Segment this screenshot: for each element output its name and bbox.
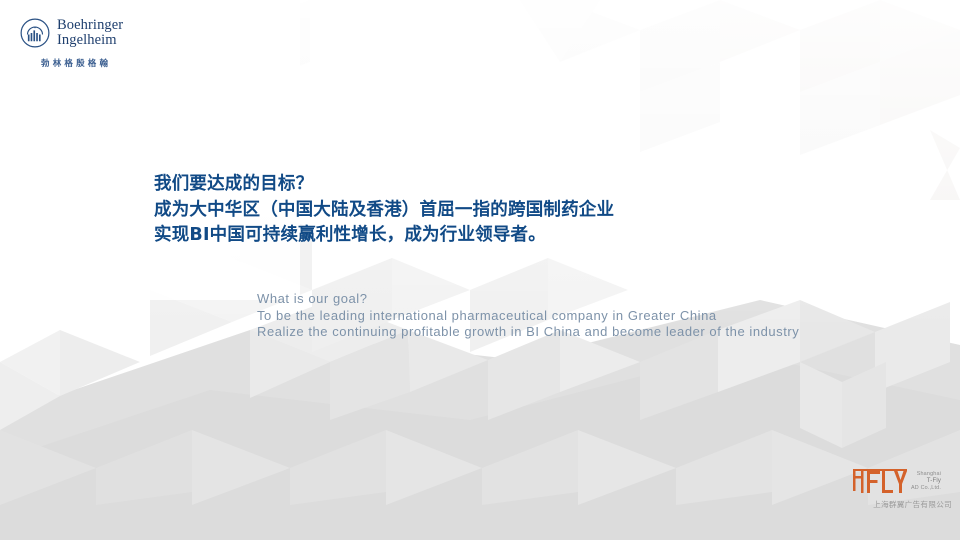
presentation-slide: Boehringer Ingelheim 勃林格殷格翰 我们要达成的目标？ 成为…: [0, 0, 960, 540]
bi-wordmark: Boehringer Ingelheim: [57, 18, 123, 48]
headline-line-1: 我们要达成的目标？: [154, 172, 874, 198]
tfly-side-line-2: T-Fly: [927, 478, 941, 486]
headline-line-3: 实现BI中国可持续赢利性增长，成为行业领导者。: [154, 223, 874, 249]
boehringer-ingelheim-mark: [20, 18, 50, 48]
tfly-side-line-1: Shanghai: [917, 471, 941, 478]
tfly-logo: Shanghai T-Fly AD Co.,Ltd. 上海群翼广告有限公司: [852, 468, 952, 524]
tfly-chinese-name: 上海群翼广告有限公司: [852, 499, 952, 510]
tfly-side-text: Shanghai T-Fly AD Co.,Ltd.: [911, 468, 941, 492]
subtext-line-2: To be the leading international pharmace…: [257, 308, 907, 325]
bi-name-line-1: Boehringer: [57, 18, 123, 33]
bi-name-line-2: Ingelheim: [57, 33, 123, 48]
headline-block: 我们要达成的目标？ 成为大中华区（中国大陆及香港）首屈一指的跨国制药企业 实现B…: [154, 172, 874, 249]
tfly-mark: [852, 468, 908, 496]
bi-chinese-name: 勃林格殷格翰: [41, 57, 160, 69]
bi-logo-row: Boehringer Ingelheim: [20, 18, 160, 48]
boehringer-ingelheim-logo: Boehringer Ingelheim 勃林格殷格翰: [20, 18, 160, 80]
headline-line-2: 成为大中华区（中国大陆及香港）首屈一指的跨国制药企业: [154, 198, 874, 224]
tfly-side-line-3: AD Co.,Ltd.: [911, 485, 941, 492]
background-polygon-pattern: [0, 0, 960, 540]
subtext-line-1: What is our goal?: [257, 291, 907, 308]
subtext-block: What is our goal? To be the leading inte…: [257, 291, 907, 341]
tfly-logo-row: Shanghai T-Fly AD Co.,Ltd.: [852, 468, 952, 496]
subtext-line-3: Realize the continuing profitable growth…: [257, 324, 907, 341]
